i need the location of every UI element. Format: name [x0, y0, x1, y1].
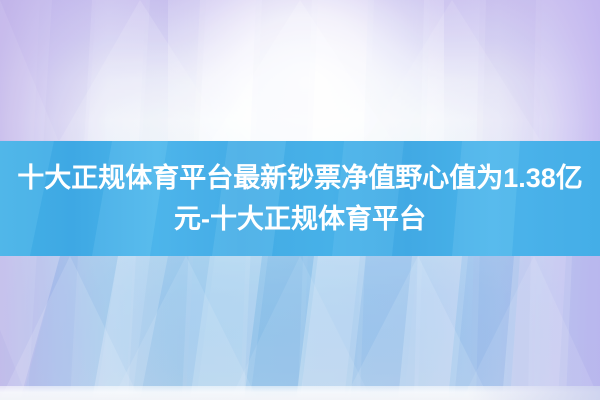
- headline-band: 十大正规体育平台最新钞票净值野心值为1.38亿元-十大正规体育平台: [0, 141, 600, 256]
- bottom-light-strip-right-tint: [468, 386, 600, 400]
- banner-headline: 十大正规体育平台最新钞票净值野心值为1.38亿元-十大正规体育平台: [15, 158, 585, 240]
- banner-image: 十大正规体育平台最新钞票净值野心值为1.38亿元-十大正规体育平台: [0, 0, 600, 400]
